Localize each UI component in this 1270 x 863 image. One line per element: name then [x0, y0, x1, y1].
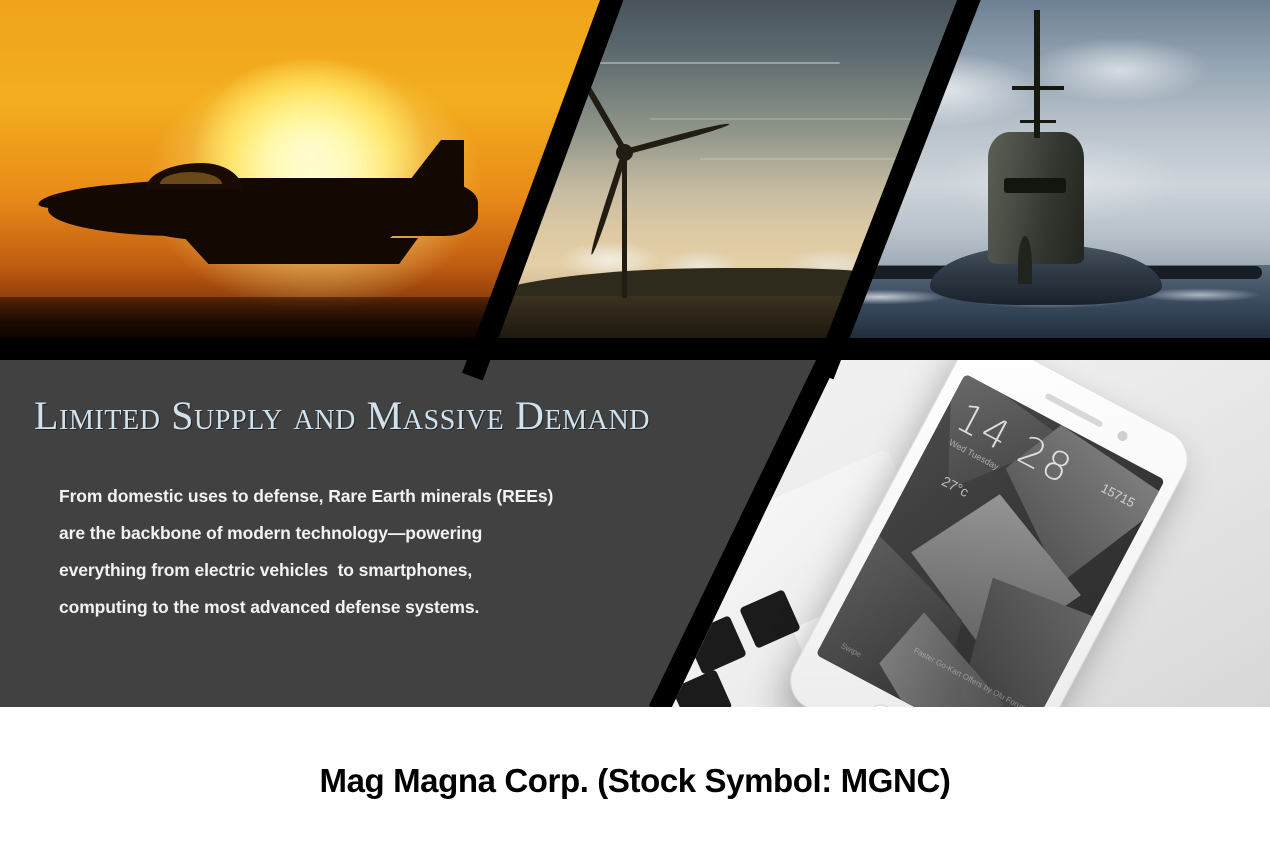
cloud-streak — [650, 118, 950, 120]
turbine-hub — [616, 144, 633, 161]
body-line: From domestic uses to defense, Rare Eart… — [59, 478, 699, 515]
submarine-bridge-window — [1004, 178, 1066, 193]
jet-wing-secondary — [300, 238, 418, 264]
submarine-mast-crossbar — [1012, 86, 1064, 90]
cloud-streak — [590, 62, 840, 64]
seam-horizontal — [0, 338, 1270, 360]
submarine-mast — [1034, 10, 1040, 138]
body-line: computing to the most advanced defense s… — [59, 589, 699, 626]
promotional-slide: 14 28 Wed Tuesday 15715 27°c Faster Go-K… — [0, 0, 1270, 863]
turbine-blade — [624, 121, 730, 155]
body-paragraph: From domestic uses to defense, Rare Eart… — [59, 478, 699, 626]
phone-front-camera-icon — [1116, 429, 1130, 443]
page-title: Limited Supply and Massive Demand — [34, 392, 794, 439]
body-line: are the backbone of modern technology—po… — [59, 515, 699, 552]
company-caption: Mag Magna Corp. (Stock Symbol: MGNC) — [0, 762, 1270, 800]
body-line: everything from electric vehicles to sma… — [59, 552, 699, 589]
submarine-conning-tower — [988, 132, 1084, 264]
submarine-mast-crossbar — [1020, 120, 1056, 123]
phone-screen: 14 28 Wed Tuesday 15715 27°c Faster Go-K… — [816, 374, 1165, 707]
turbine-mast — [622, 150, 627, 298]
